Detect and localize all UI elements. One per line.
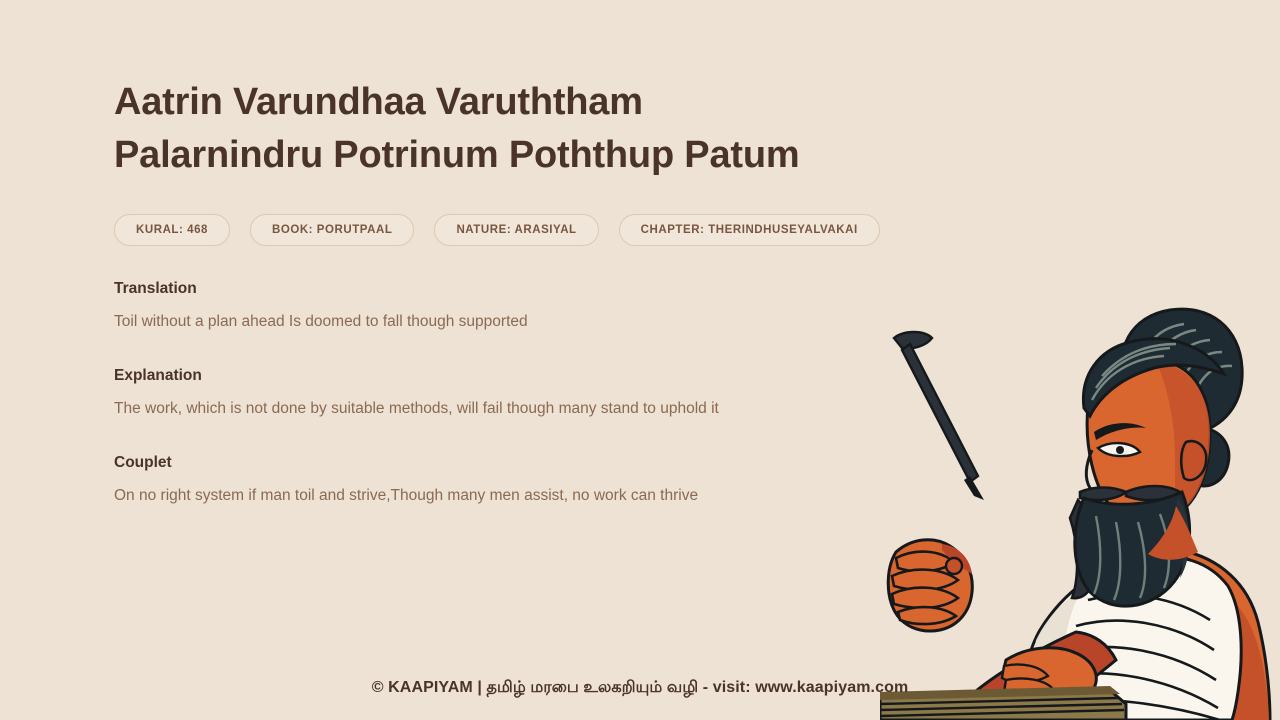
thumb xyxy=(942,544,972,574)
moustache-right xyxy=(1126,486,1180,500)
tag-nature[interactable]: NATURE: ARASIYAL xyxy=(434,214,598,246)
eyebrow xyxy=(1094,423,1146,440)
hair-bun xyxy=(1122,309,1243,435)
section-translation: Translation Toil without a plan ahead Is… xyxy=(114,279,894,333)
tag-book[interactable]: BOOK: PORUTPAAL xyxy=(250,214,414,246)
translation-label: Translation xyxy=(114,279,894,299)
explanation-label: Explanation xyxy=(114,366,894,386)
moustache-left xyxy=(1080,488,1126,501)
couplet-text: On no right system if man toil and striv… xyxy=(114,473,854,507)
tag-kural[interactable]: KURAL: 468 xyxy=(114,214,230,246)
pupil xyxy=(1116,446,1124,454)
section-explanation: Explanation The work, which is not done … xyxy=(114,366,894,420)
content-column: Aatrin Varundhaa Varuththam Palarnindru … xyxy=(114,0,894,507)
footer-credit: © KAAPIYAM | தமிழ் மரபை உலகறியும் வழி - … xyxy=(0,678,1280,698)
nose xyxy=(1086,450,1110,493)
hair-lock xyxy=(1192,428,1229,486)
far-arm-shadow xyxy=(1222,600,1269,720)
hair-front xyxy=(1083,339,1224,416)
section-couplet: Couplet On no right system if man toil a… xyxy=(114,453,894,507)
tag-chapter[interactable]: CHAPTER: THERINDHUSEYALVAKAI xyxy=(619,214,880,246)
tag-row: KURAL: 468 BOOK: PORUTPAAL NATURE: ARASI… xyxy=(114,214,894,246)
near-arm xyxy=(936,632,1116,720)
explanation-text: The work, which is not done by suitable … xyxy=(114,386,854,420)
eye xyxy=(1098,443,1140,456)
thiruvalluvar-illustration xyxy=(880,300,1280,720)
beard-shadow xyxy=(1176,498,1190,578)
stylus-icon xyxy=(894,332,984,500)
face-shadow xyxy=(1156,362,1210,514)
face xyxy=(1087,359,1210,524)
thumb-tip xyxy=(946,558,962,574)
neck xyxy=(1148,506,1198,560)
fingers xyxy=(892,552,958,624)
beard xyxy=(1075,492,1190,606)
page-title: Aatrin Varundhaa Varuththam Palarnindru … xyxy=(114,0,844,182)
beard-left xyxy=(1070,500,1098,598)
ear xyxy=(1181,441,1206,480)
couplet-label: Couplet xyxy=(114,453,894,473)
writing-hand xyxy=(888,540,972,631)
poster-canvas: Aatrin Varundhaa Varuththam Palarnindru … xyxy=(0,0,1280,720)
translation-text: Toil without a plan ahead Is doomed to f… xyxy=(114,299,854,333)
